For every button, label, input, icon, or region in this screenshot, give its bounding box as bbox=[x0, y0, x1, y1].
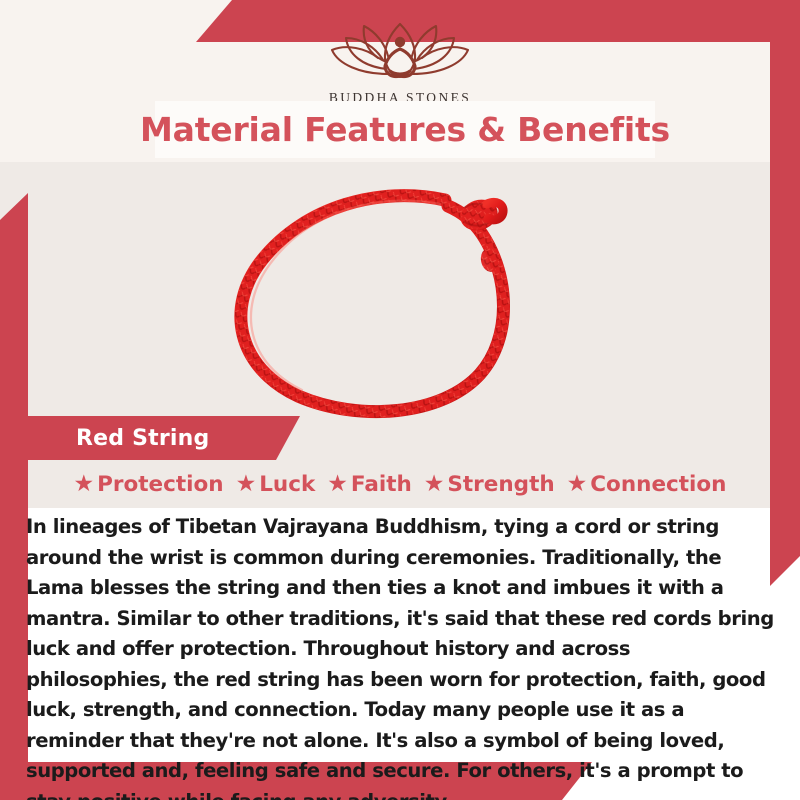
benefit-label: Faith bbox=[351, 472, 412, 497]
red-string-bracelet-illustration bbox=[190, 168, 620, 426]
benefit-item-protection: ★ Protection bbox=[69, 472, 229, 497]
benefit-label: Connection bbox=[590, 472, 726, 497]
benefit-label: Strength bbox=[447, 472, 554, 497]
product-image bbox=[190, 168, 620, 426]
infographic-page: BUDDHA STONES Material Features & Benefi… bbox=[0, 0, 800, 800]
description-paragraph: In lineages of Tibetan Vajrayana Buddhis… bbox=[26, 512, 774, 800]
brand-logo: BUDDHA STONES bbox=[0, 14, 800, 106]
star-icon: ★ bbox=[236, 472, 257, 495]
benefit-label: Protection bbox=[97, 472, 223, 497]
star-icon: ★ bbox=[424, 472, 445, 495]
lotus-meditation-icon bbox=[326, 14, 474, 86]
benefit-item-faith: ★ Faith bbox=[322, 472, 417, 497]
page-title: Material Features & Benefits bbox=[140, 110, 670, 149]
benefit-item-connection: ★ Connection bbox=[562, 472, 732, 497]
star-icon: ★ bbox=[327, 472, 348, 495]
red-string-ribbon: Red String bbox=[28, 416, 300, 460]
title-plate: Material Features & Benefits bbox=[155, 101, 655, 158]
benefit-item-strength: ★ Strength bbox=[419, 472, 560, 497]
star-icon: ★ bbox=[567, 472, 588, 495]
benefit-label: Luck bbox=[259, 472, 315, 497]
benefits-row: ★ Protection ★ Luck ★ Faith ★ Strength ★… bbox=[28, 462, 772, 506]
benefit-item-luck: ★ Luck bbox=[231, 472, 321, 497]
star-icon: ★ bbox=[74, 472, 95, 495]
ribbon-label: Red String bbox=[76, 426, 209, 451]
